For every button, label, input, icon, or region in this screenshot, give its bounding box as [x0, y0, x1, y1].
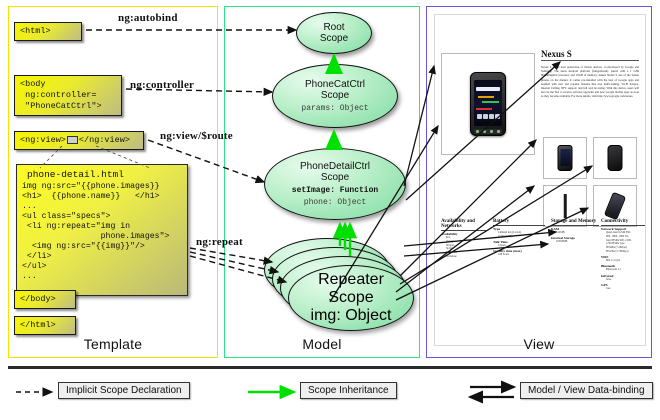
connector-label-controller: ng:controller — [130, 79, 194, 91]
spec-value: 16384MB — [551, 240, 599, 244]
ngview-slot-icon — [67, 136, 78, 144]
spec-column-battery: Battery Type Lithium Ion (Li-Ion)(1500 m… — [493, 219, 545, 257]
screen-line-3 — [476, 108, 492, 110]
app-icon — [483, 114, 488, 119]
thumbnail-phone-back[interactable] — [593, 137, 637, 179]
scope-detail-prop-phone: phone: Object — [304, 198, 366, 207]
page-title: Nexus S — [541, 49, 639, 61]
scope-cat-prop-params: params: Object — [301, 104, 368, 113]
title-rule — [541, 60, 639, 61]
scope-detail-line2: Scope — [321, 172, 349, 183]
sticky-note-phone-detail: phone-detail.html img ng:src="{{phone.im… — [16, 164, 188, 296]
thumbnail-grid — [543, 137, 639, 227]
thumbnail-phone-front[interactable] — [543, 137, 587, 179]
ngview-close-text: </ng:view> — [79, 135, 130, 145]
spec-value: M1,Orange,Singtel,Sprint,T-Mobile,Vodafo… — [441, 236, 487, 259]
tag-html-close: </html> — [14, 316, 76, 335]
phone-screen — [474, 80, 502, 126]
app-icon — [489, 114, 494, 119]
legend-divider — [8, 366, 652, 369]
scope-phonedetailctrl: PhoneDetailCtrl Scope setImage: Function… — [264, 148, 406, 220]
scope-repeater-line1: Repeater — [318, 271, 384, 289]
scope-cat-line1: PhoneCatCtrl — [305, 79, 365, 90]
column-label-view: View — [426, 336, 652, 418]
legend-item-implicit-scope-declaration: Implicit Scope Declaration — [58, 382, 190, 399]
page-title-text: Nexus S — [541, 49, 639, 59]
scope-root: Root Scope — [296, 12, 372, 54]
thumb-art-edge — [564, 194, 567, 218]
scope-cat-line2: Scope — [321, 90, 349, 101]
note-title: phone-detail.html — [17, 165, 187, 182]
connector-label-route: ng:view/$route — [160, 130, 233, 142]
spec-header: Availability and Networks — [441, 219, 487, 231]
connector-label-autobind: ng:autobind — [118, 12, 178, 24]
screen-line-1 — [478, 96, 494, 98]
spec-value: 428 hours — [493, 253, 545, 257]
app-icon — [495, 114, 500, 119]
connector-label-repeat: ng:repeat — [196, 236, 243, 248]
spec-column-availability: Availability and Networks Availability M… — [441, 219, 487, 259]
spec-value: true — [601, 287, 646, 291]
app-icon-row — [476, 114, 500, 119]
spec-column-connectivity: Connectivity Network Support Quad-band G… — [601, 219, 646, 291]
scope-root-line1: Root — [323, 22, 344, 33]
spec-value: 802.11 b/g/n — [601, 259, 646, 263]
scope-repeater-prop-img: img: Object — [311, 307, 392, 325]
ngview-open-text: <ng:view> — [20, 135, 66, 145]
scope-phonecatctrl: PhoneCatCtrl Scope params: Object — [272, 64, 398, 128]
scope-repeater-line2: Scope — [328, 289, 373, 307]
scope-detail-line1: PhoneDetailCtrl — [300, 161, 370, 172]
app-icon — [477, 114, 482, 119]
tag-body-close: </body> — [14, 290, 76, 309]
legend-item-scope-inheritance: Scope Inheritance — [300, 382, 397, 399]
spec-value: Lithium Ion (Li-Ion)(1500 mAH) — [493, 231, 545, 239]
scope-repeater: Repeater Scope img: Object — [288, 265, 414, 331]
spec-value: false — [601, 278, 646, 282]
thumb-art-front — [558, 145, 573, 171]
tag-html-open: <html> — [14, 22, 82, 41]
diagram-canvas: <html> <body ng:controller= "PhoneCatCtr… — [0, 0, 660, 420]
nav-dot — [490, 130, 493, 133]
column-label-model: Model — [224, 336, 420, 418]
note-code: img ng:src="{{phone.images}} <h1> {{phon… — [17, 182, 187, 282]
column-label-template: Template — [8, 336, 218, 418]
spec-value: Bluetooth 2.1 — [601, 268, 646, 272]
thumb-art-angle — [604, 192, 626, 220]
spec-header: Connectivity — [601, 219, 646, 226]
spec-value: 6 hours — [493, 244, 545, 248]
thumb-art-back — [608, 145, 623, 171]
page-description: Nexus S is the next generation of Nexus … — [541, 65, 639, 99]
tag-ngview: <ng:view></ng:view> — [14, 131, 144, 150]
tag-body-open: <body ng:controller= "PhoneCatCtrl"> — [14, 75, 122, 116]
spec-column-storage: Storage and Memory RAM 512MB Internal St… — [551, 219, 599, 244]
rendered-page: Nexus S Nexus S is the next generation o… — [434, 14, 646, 346]
spec-value: Quad-band GSM 850,900, 1800, 1900 Tri-ba… — [601, 231, 646, 254]
nav-dot — [497, 130, 500, 133]
phone-hero-image — [470, 72, 506, 136]
spec-header: Battery — [493, 219, 545, 226]
spec-header: Storage and Memory — [551, 219, 599, 226]
nav-dot — [476, 130, 479, 133]
screen-line-2 — [482, 101, 499, 103]
nav-dot — [483, 130, 486, 133]
hero-image-frame — [441, 53, 535, 155]
scope-root-line2: Scope — [320, 33, 348, 44]
search-bar-graphic — [476, 87, 500, 91]
spec-value: 512MB — [551, 231, 599, 235]
legend-item-data-binding: Model / View Data-binding — [520, 382, 653, 399]
phone-nav-bar — [474, 129, 502, 134]
scope-detail-prop-setimage: setImage: Function — [292, 186, 378, 195]
